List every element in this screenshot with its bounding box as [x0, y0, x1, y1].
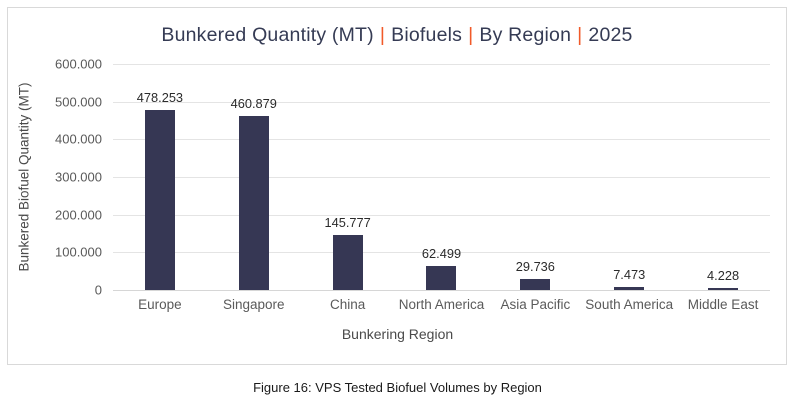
- bar[interactable]: [333, 235, 363, 290]
- title-segment: Biofuels: [391, 24, 462, 46]
- bar[interactable]: [614, 287, 644, 290]
- x-axis-tick-label: North America: [399, 297, 485, 312]
- bar-slot: 4.228: [676, 64, 770, 290]
- y-axis-tick-label: 400.000: [16, 132, 102, 147]
- title-separator: |: [462, 24, 479, 46]
- figure-container: Bunkered Quantity (MT)|Biofuels|By Regio…: [0, 0, 795, 407]
- chart-title: Bunkered Quantity (MT)|Biofuels|By Regio…: [8, 24, 786, 47]
- title-segment: Bunkered Quantity (MT): [161, 24, 373, 46]
- bar-value-label: 4.228: [707, 268, 739, 283]
- axis-baseline: [113, 290, 770, 291]
- y-axis-tick-label: 600.000: [16, 57, 102, 72]
- x-axis-tick-label: Middle East: [688, 297, 759, 312]
- bar-slot: 62.499: [395, 64, 489, 290]
- bar[interactable]: [239, 116, 269, 290]
- x-axis-tick-label: China: [330, 297, 365, 312]
- bar[interactable]: [708, 288, 738, 290]
- bar[interactable]: [520, 279, 550, 290]
- x-axis-tick-label: Asia Pacific: [500, 297, 570, 312]
- title-segment: 2025: [588, 24, 632, 46]
- bar-value-label: 7.473: [613, 267, 645, 282]
- y-axis-tick-label: 500.000: [16, 94, 102, 109]
- bar-value-label: 29.736: [516, 259, 555, 274]
- title-segment: By Region: [479, 24, 571, 46]
- bar-value-label: 145.777: [324, 215, 370, 230]
- bar-slot: 7.473: [582, 64, 676, 290]
- bar-value-label: 460.879: [231, 96, 277, 111]
- bar-value-label: 478.253: [137, 90, 183, 105]
- bar-slot: 29.736: [488, 64, 582, 290]
- bar[interactable]: [426, 266, 456, 290]
- y-axis-tick-label: 200.000: [16, 207, 102, 222]
- title-separator: |: [374, 24, 391, 46]
- y-axis-tick-label: 0: [16, 283, 102, 298]
- x-axis-ticks: EuropeSingaporeChinaNorth AmericaAsia Pa…: [113, 297, 770, 317]
- x-axis-tick-label: Singapore: [223, 297, 285, 312]
- bar-value-label: 62.499: [422, 246, 461, 261]
- x-axis-tick-label: Europe: [138, 297, 182, 312]
- x-axis-title: Bunkering Region: [0, 326, 795, 342]
- bar-slot: 478.253: [113, 64, 207, 290]
- y-axis-tick-label: 300.000: [16, 170, 102, 185]
- bar[interactable]: [145, 110, 175, 290]
- bar-slot: 460.879: [207, 64, 301, 290]
- x-axis-tick-label: South America: [585, 297, 673, 312]
- title-separator: |: [571, 24, 588, 46]
- bar-slot: 145.777: [301, 64, 395, 290]
- bar-series: 478.253460.879145.77762.49929.7367.4734.…: [113, 64, 770, 290]
- figure-caption: Figure 16: VPS Tested Biofuel Volumes by…: [0, 380, 795, 395]
- y-axis-tick-label: 100.000: [16, 245, 102, 260]
